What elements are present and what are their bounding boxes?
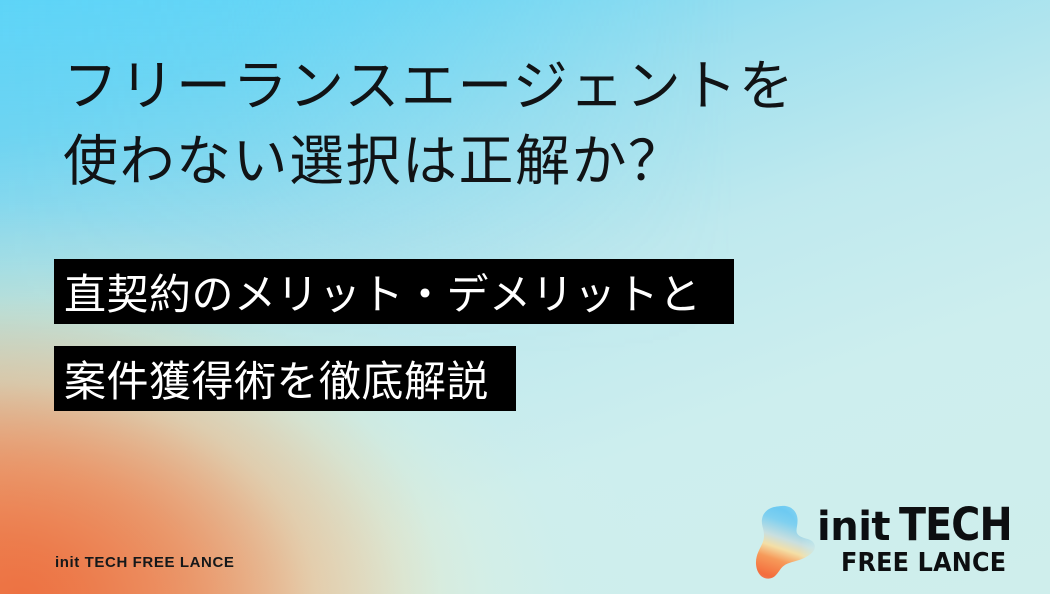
poster-canvas: フリーランスエージェントを 使わない選択は正解か？ 直契約のメリット・デメリット… <box>0 0 1050 594</box>
init-tech-blob-icon <box>755 504 817 580</box>
subtitle-band-1-label: 直契約のメリット・デメリットと <box>64 261 702 322</box>
subtitle-band-2: 案件獲得術を徹底解説 <box>54 346 516 411</box>
logo-primary-line: init TECH <box>817 502 1027 547</box>
subtitle-band-1: 直契約のメリット・デメリットと <box>54 259 734 324</box>
subtitle-band-2-label: 案件獲得術を徹底解説 <box>64 348 489 409</box>
footer-wordmark: init TECH FREE LANCE <box>55 554 235 571</box>
brand-logo: init TECH FREE LANCE <box>755 500 1010 584</box>
page-title: フリーランスエージェントを 使わない選択は正解か？ <box>63 49 963 199</box>
logo-freelance-text: FREE LANCE <box>841 548 1006 578</box>
logo-init-text: init <box>817 507 890 547</box>
logo-wordmark: init TECH FREE LANCE <box>817 500 1012 584</box>
logo-tech-text: TECH <box>899 502 1012 547</box>
